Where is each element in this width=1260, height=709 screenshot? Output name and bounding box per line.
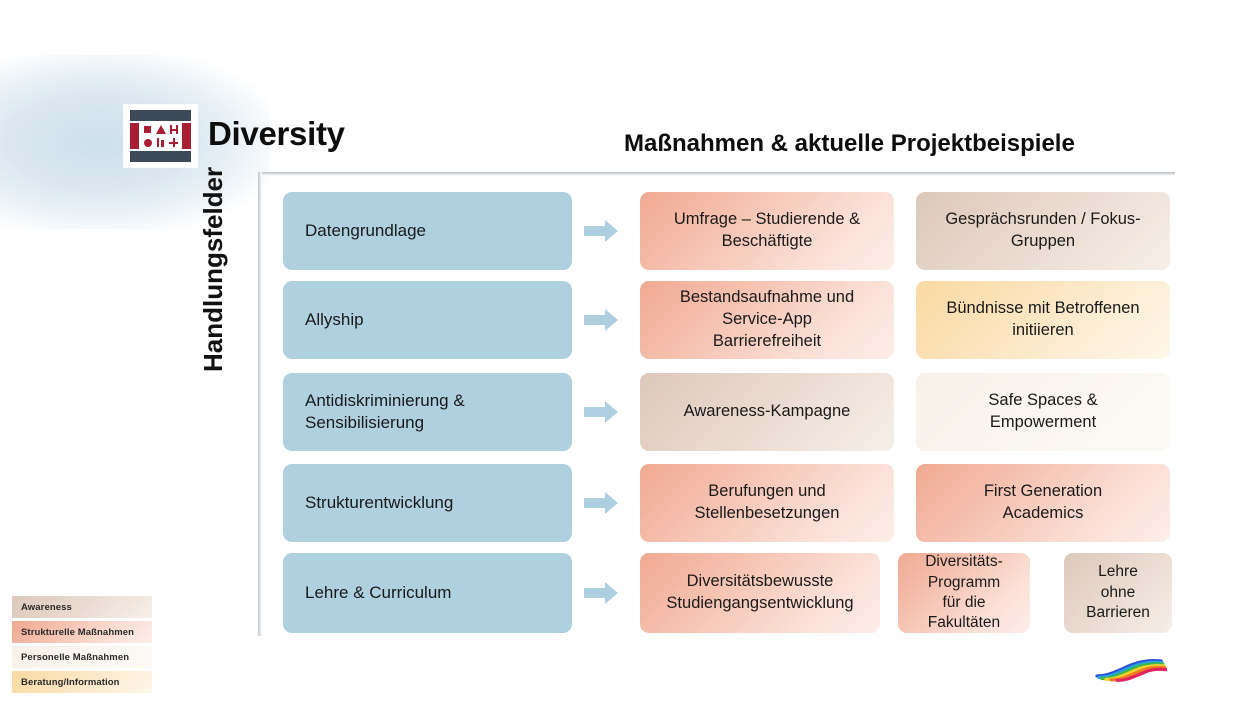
legend-item-label: Beratung/Information [21,677,120,688]
legend-item: Awareness [12,596,152,618]
measure-box[interactable]: Umfrage – Studierende & Beschäftigte [640,192,894,270]
logo-block-right [182,123,191,149]
legend-item-label: Personelle Maßnahmen [21,652,129,663]
column-group-title: Maßnahmen & aktuelle Projektbeispiele [624,130,1075,158]
vertical-divider [258,172,262,636]
arrow-right-icon [584,582,618,604]
header-divider [258,172,1175,176]
arrow-right-icon [584,401,618,423]
logo-glyph-circle [144,139,152,147]
measure-box[interactable]: Awareness-Kampagne [640,373,894,451]
field-box[interactable]: Allyship [283,281,572,359]
legend-item: Personelle Maßnahmen [12,646,152,668]
logo-glyph-l [157,138,164,147]
field-box[interactable]: Antidiskriminierung & Sensibilisierung [283,373,572,451]
logo-glyph-square [144,126,151,133]
rainbow-mark [1093,657,1167,683]
logo-glyph-h [170,125,178,134]
legend-item-label: Strukturelle Maßnahmen [21,627,134,638]
measure-box[interactable]: Diversitäts- Programm für die Fakultäten [898,553,1030,633]
measure-box[interactable]: Safe Spaces & Empowerment [916,373,1170,451]
arrow-right-icon [584,492,618,514]
field-box[interactable]: Datengrundlage [283,192,572,270]
axis-label-handlungsfelder: Handlungsfelder [198,72,229,372]
field-box[interactable]: Strukturentwicklung [283,464,572,542]
logo-glyphs [141,123,180,149]
logo-block-left [130,123,139,149]
logo-middle [130,123,191,149]
arrow-right-icon [584,309,618,331]
logo-glyph-triangle [156,125,166,134]
logo-bar-bottom [130,151,191,162]
measure-box[interactable]: Gesprächsrunden / Fokus- Gruppen [916,192,1170,270]
measure-box[interactable]: Bündnisse mit Betroffenen initiieren [916,281,1170,359]
measure-box[interactable]: First Generation Academics [916,464,1170,542]
arrow-right-icon [584,220,618,242]
measure-box[interactable]: Bestandsaufnahme und Service-App Barrier… [640,281,894,359]
legend-item-label: Awareness [21,602,72,613]
logo-bar-top [130,110,191,121]
measure-box[interactable]: Diversitätsbewusste Studiengangsentwickl… [640,553,880,633]
legend-item: Beratung/Information [12,671,152,693]
phb-logo [123,104,198,168]
field-box[interactable]: Lehre & Curriculum [283,553,572,633]
measure-box[interactable]: Berufungen und Stellenbesetzungen [640,464,894,542]
measure-box[interactable]: Lehre ohne Barrieren [1064,553,1172,633]
legend: AwarenessStrukturelle MaßnahmenPersonell… [12,596,152,696]
legend-item: Strukturelle Maßnahmen [12,621,152,643]
logo-glyph-plus [169,138,178,147]
